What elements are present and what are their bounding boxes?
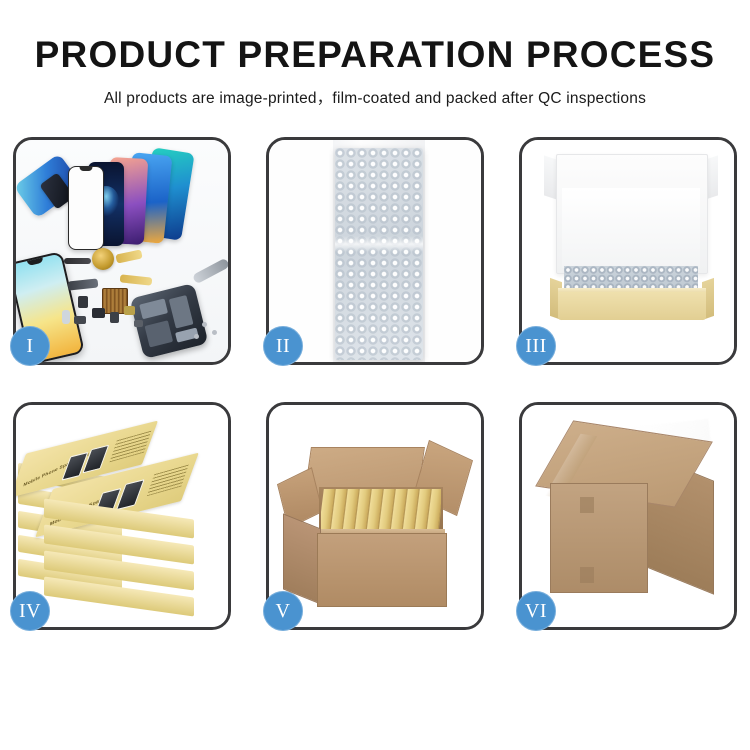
- step-card-3[interactable]: III: [519, 137, 737, 365]
- step-badge-1: I: [10, 326, 50, 366]
- screw-2: [212, 330, 217, 335]
- flex-cable-2: [120, 274, 153, 285]
- step-frame-4: Mobile Phone Spare Parts Mobile Phone Sp…: [13, 402, 231, 630]
- screw-3: [194, 334, 199, 339]
- step-badge-2: II: [263, 326, 303, 366]
- step-frame-6: [519, 402, 737, 630]
- housing-part-3: [145, 320, 174, 347]
- small-part-4: [124, 306, 135, 315]
- housing-part-1: [139, 298, 168, 319]
- step-image-products-and-parts: [16, 140, 228, 362]
- page-subtitle: All products are image-printed，film-coat…: [0, 75, 750, 108]
- step-image-sealed-shipping-carton: [522, 405, 734, 627]
- housing-part-2: [169, 295, 194, 328]
- header: PRODUCT PREPARATION PROCESS All products…: [0, 0, 750, 108]
- step-image-bubble-wrap: [269, 140, 481, 362]
- retail-box-screen-img-b2: [82, 445, 109, 474]
- step-badge-6: VI: [516, 591, 556, 631]
- product-preparation-poster: PRODUCT PREPARATION PROCESS All products…: [0, 0, 750, 750]
- speaker-part: [64, 258, 91, 264]
- step-badge-5: V: [263, 591, 303, 631]
- small-part-3: [110, 312, 119, 323]
- step-image-stacked-retail-boxes: Mobile Phone Spare Parts Mobile Phone Sp…: [16, 405, 228, 627]
- retail-box-spec-lines-front: [147, 465, 189, 497]
- small-part-2: [92, 308, 105, 318]
- step-badge-4: IV: [10, 591, 50, 631]
- small-part-1: [78, 296, 88, 308]
- sealed-carton-front-panel: [550, 483, 648, 593]
- sim-tray-part: [62, 310, 70, 324]
- step-frame-3: [519, 137, 737, 365]
- bubble-wrap-highlight: [335, 236, 423, 252]
- phone-screen-fan: [16, 140, 228, 260]
- small-part-6: [74, 316, 86, 324]
- carton-seam-top: [580, 497, 594, 513]
- step-card-6[interactable]: VI: [519, 402, 737, 630]
- step-badge-3: III: [516, 326, 556, 366]
- step-frame-2: [266, 137, 484, 365]
- bubble-wrap-sheet: [335, 148, 423, 360]
- page-title: PRODUCT PREPARATION PROCESS: [0, 0, 750, 75]
- step-image-open-shipping-carton: [269, 405, 481, 627]
- small-part-7: [134, 320, 143, 327]
- screw-1: [202, 322, 207, 327]
- flex-cable-3: [68, 278, 99, 290]
- retail-box-spec-lines-back: [109, 431, 151, 463]
- step-card-1[interactable]: I: [13, 137, 231, 365]
- step-card-2[interactable]: II: [266, 137, 484, 365]
- carton-front-panel: [317, 533, 447, 607]
- retail-box-screen-img-f2: [116, 479, 145, 510]
- mailer-front-panel: [558, 292, 706, 320]
- tweezers-icon: [192, 258, 228, 285]
- carton-seam-bottom: [580, 567, 594, 583]
- step-image-inner-mailer-box: [522, 140, 734, 362]
- step-card-5[interactable]: V: [266, 402, 484, 630]
- phone-screen-white-blank: [68, 166, 104, 250]
- vibration-motor-icon: [92, 248, 114, 270]
- step-frame-1: [13, 137, 231, 365]
- step-card-4[interactable]: Mobile Phone Spare Parts Mobile Phone Sp…: [13, 402, 231, 630]
- steps-grid: I II: [13, 137, 737, 685]
- retail-box-stack: Mobile Phone Spare Parts Mobile Phone Sp…: [16, 413, 228, 625]
- mailer-inner-panel: [562, 188, 700, 268]
- step-frame-5: [266, 402, 484, 630]
